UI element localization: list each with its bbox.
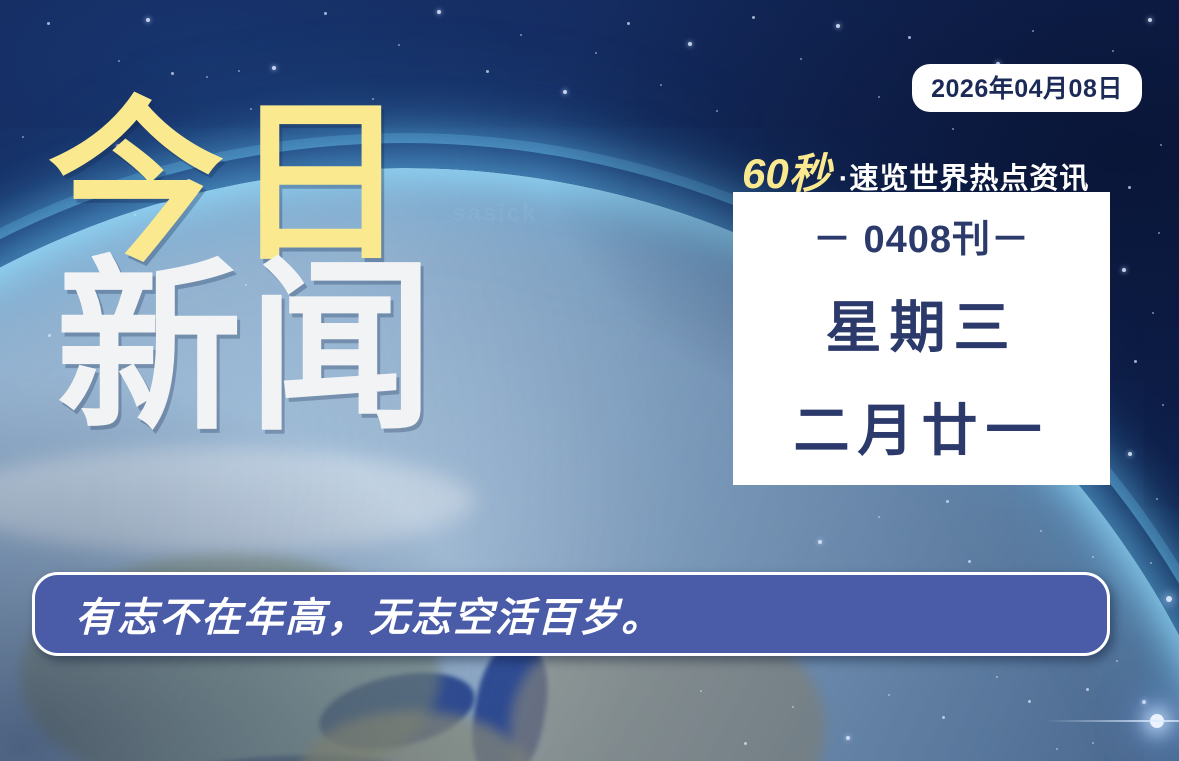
watermark-text: sasick — [452, 200, 537, 228]
issue-card: － 0408刊－ 星期三 二月廿一 — [733, 192, 1110, 485]
title-line-news: 新闻 — [56, 256, 440, 442]
lunar-date-label: 二月廿一 — [794, 386, 1050, 467]
weekday-label: 星期三 — [826, 283, 1018, 364]
tagline-subtitle: ·速览世界热点资讯 — [839, 155, 1090, 197]
news-poster: sasick 今日 新闻 2026年04月08日 60秒 ·速览世界热点资讯 －… — [0, 0, 1179, 761]
quote-text: 有志不在年高，无志空活百岁。 — [75, 585, 663, 643]
lens-flare-star — [1150, 714, 1164, 728]
quote-bar: 有志不在年高，无志空活百岁。 — [32, 572, 1110, 656]
poster-title: 今日 新闻 — [48, 96, 440, 442]
date-badge: 2026年04月08日 — [912, 64, 1142, 112]
issue-number: － 0408刊－ — [813, 208, 1030, 263]
